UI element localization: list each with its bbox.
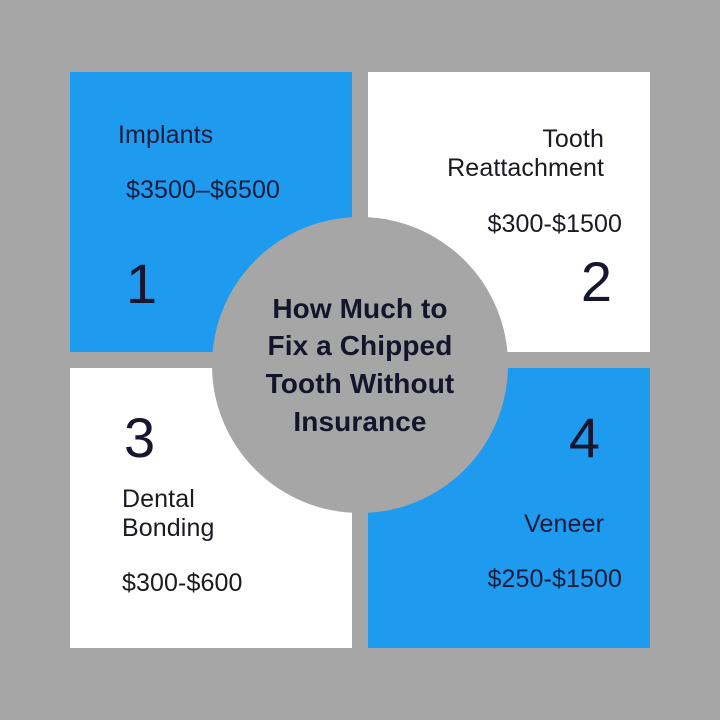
quadrant-2-price: $300-$1500 [488, 210, 622, 239]
quadrant-2-numeral: 2 [581, 254, 612, 310]
quadrant-4-label: Veneer [524, 510, 604, 539]
quadrant-1-price: $3500–$6500 [126, 176, 280, 205]
page-title: How Much to Fix a Chipped Tooth Without … [248, 290, 473, 440]
quadrant-4-numeral: 4 [569, 410, 600, 466]
infographic-canvas: Implants $3500–$6500 1 Tooth Reattachmen… [0, 0, 720, 720]
quadrant-3-label: Dental Bonding [122, 485, 214, 543]
quadrant-1-label: Implants [118, 121, 213, 150]
quadrant-4-price: $250-$1500 [488, 565, 622, 594]
quadrant-1-numeral: 1 [126, 256, 157, 312]
quadrant-3-numeral: 3 [124, 410, 155, 466]
quadrant-2-label: Tooth Reattachment [447, 125, 604, 183]
quadrant-3-price: $300-$600 [122, 569, 242, 598]
center-circle: How Much to Fix a Chipped Tooth Without … [212, 217, 508, 513]
